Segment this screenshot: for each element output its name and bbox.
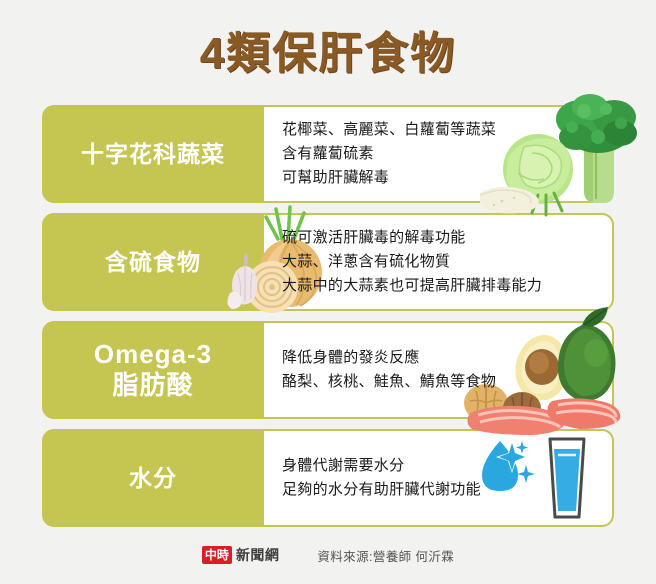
brand-name: 新聞網: [236, 545, 280, 565]
food-category-card: Omega-3 脂肪酸 降低身體的發炎反應 酪梨、核桃、鮭魚、鯖魚等食物: [42, 321, 614, 419]
category-description: 花椰菜、高麗菜、白蘿蔔等蔬菜 含有蘿蔔硫素 可幫助肝臟解毒: [264, 118, 496, 190]
category-label-panel: 水分: [42, 429, 264, 527]
category-detail-panel: 降低身體的發炎反應 酪梨、核桃、鮭魚、鯖魚等食物: [264, 321, 614, 419]
category-label-panel: 含硫食物: [42, 213, 264, 311]
category-description: 身體代謝需要水分 足夠的水分有助肝臟代謝功能: [264, 454, 481, 502]
category-description: 降低身體的發炎反應 酪梨、核桃、鮭魚、鯖魚等食物: [264, 346, 496, 394]
category-label-panel: Omega-3 脂肪酸: [42, 321, 264, 419]
food-category-card: 水分 身體代謝需要水分 足夠的水分有助肝臟代謝功能: [42, 429, 614, 527]
category-detail-panel: 花椰菜、高麗菜、白蘿蔔等蔬菜 含有蘿蔔硫素 可幫助肝臟解毒: [264, 105, 614, 203]
source-credit: 資料來源:營養師 何沂霖: [317, 546, 454, 565]
footer: 中時 新聞網 資料來源:營養師 何沂霖: [0, 545, 656, 565]
food-category-card: 十字花科蔬菜 花椰菜、高麗菜、白蘿蔔等蔬菜 含有蘿蔔硫素 可幫助肝臟解毒: [42, 105, 614, 203]
water-droplet-glass-icon: [478, 435, 590, 521]
brand-badge: 中時: [202, 546, 232, 564]
category-label: Omega-3 脂肪酸: [94, 339, 212, 401]
category-description: 硫可激活肝臟毒的解毒功能 大蒜、洋蔥含有硫化物質 大蒜中的大蒜素也可提高肝臟排毒…: [264, 226, 542, 298]
category-detail-panel: 硫可激活肝臟毒的解毒功能 大蒜、洋蔥含有硫化物質 大蒜中的大蒜素也可提高肝臟排毒…: [264, 213, 614, 311]
category-label: 十字花科蔬菜: [81, 140, 225, 169]
category-detail-panel: 身體代謝需要水分 足夠的水分有助肝臟代謝功能: [264, 429, 614, 527]
page-title: 4類保肝食物: [0, 28, 656, 80]
category-label: 水分: [129, 464, 177, 493]
category-label-panel: 十字花科蔬菜: [42, 105, 264, 203]
brand-logo: 中時 新聞網: [202, 545, 280, 565]
broccoli-cabbage-radish-icon: [480, 87, 640, 217]
food-category-card: 含硫食物: [42, 213, 614, 311]
category-label: 含硫食物: [105, 248, 201, 277]
